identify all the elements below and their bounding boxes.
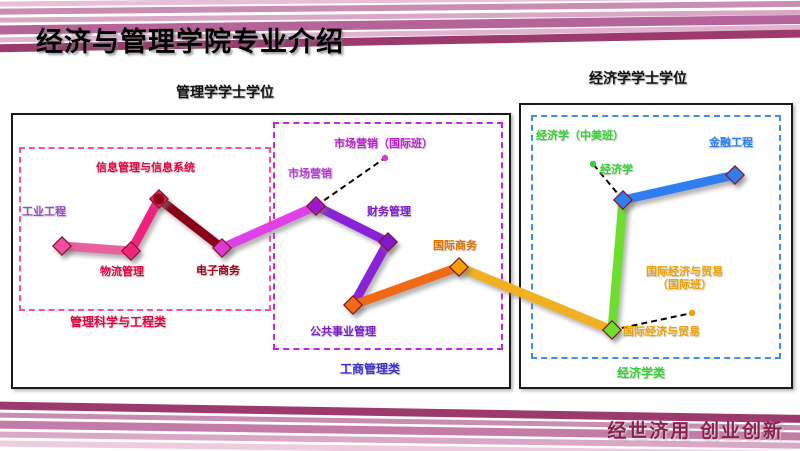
node-label-econ: 经济学 bbox=[600, 163, 633, 176]
node-label-line: 工业工程 bbox=[22, 205, 66, 218]
node-label-pam: 公共事业管理 bbox=[310, 325, 376, 338]
node-label-line: 金融工程 bbox=[709, 136, 753, 149]
node-label-line: 国际经济与贸易 bbox=[623, 325, 700, 338]
node-label-ie: 工业工程 bbox=[22, 205, 66, 218]
node-label-line: 市场营销 bbox=[288, 167, 332, 180]
node-label-line: 经济学 bbox=[600, 163, 633, 176]
node-label-line: 信息管理与信息系统 bbox=[96, 161, 195, 174]
category-box-economics bbox=[531, 115, 781, 359]
node-label-line: （国际班） bbox=[646, 278, 723, 291]
category-box-business-admin bbox=[273, 122, 503, 350]
node-label-lm: 物流管理 bbox=[100, 265, 144, 278]
node-label-mis: 信息管理与信息系统 bbox=[96, 161, 195, 174]
node-label-ib: 国际商务 bbox=[433, 239, 477, 252]
node-label-ec: 电子商务 bbox=[196, 264, 240, 277]
node-label-mkt: 市场营销 bbox=[288, 167, 332, 180]
section-title-economics: 经济学学士学位 bbox=[589, 68, 687, 88]
node-label-econ_cn_us: 经济学（中美班） bbox=[536, 129, 624, 142]
node-label-iet_intl: 国际经济与贸易（国际班） bbox=[646, 265, 723, 291]
node-label-line: 财务管理 bbox=[367, 205, 411, 218]
category-label-economics: 经济学类 bbox=[617, 364, 665, 381]
node-label-mkt_intl: 市场营销（国际班） bbox=[334, 137, 433, 150]
section-title-management: 管理学学士学位 bbox=[176, 82, 274, 102]
footer-slogan: 经世济用 创业创新 bbox=[607, 416, 784, 443]
node-label-line: 电子商务 bbox=[196, 264, 240, 277]
node-label-fm: 财务管理 bbox=[367, 205, 411, 218]
node-label-fe: 金融工程 bbox=[709, 136, 753, 149]
category-label-business-admin: 工商管理类 bbox=[340, 360, 400, 377]
node-label-line: 国际商务 bbox=[433, 239, 477, 252]
node-label-line: 市场营销（国际班） bbox=[334, 137, 433, 150]
page-title: 经济与管理学院专业介绍 bbox=[36, 20, 344, 59]
node-label-iet: 国际经济与贸易 bbox=[623, 325, 700, 338]
slide-canvas: 经济与管理学院专业介绍 管理学学士学位 经济学学士学位 工业工程物流管理信息管理… bbox=[0, 0, 800, 451]
category-label-management-science: 管理科学与工程类 bbox=[70, 313, 166, 330]
node-label-line: 公共事业管理 bbox=[310, 325, 376, 338]
node-label-line: 国际经济与贸易 bbox=[646, 265, 723, 278]
node-label-line: 物流管理 bbox=[100, 265, 144, 278]
node-label-line: 经济学（中美班） bbox=[536, 129, 624, 142]
